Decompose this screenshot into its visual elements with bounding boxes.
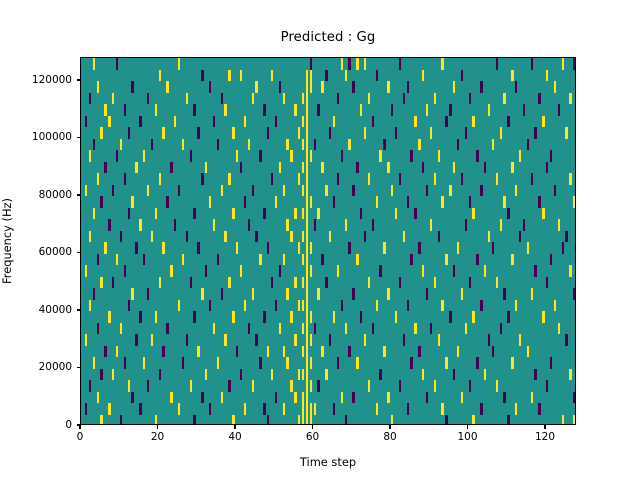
heatmap-cell	[255, 334, 257, 346]
heatmap-cell	[438, 150, 440, 162]
heatmap-cell	[329, 231, 331, 243]
heatmap-cell	[271, 70, 273, 82]
heatmap-cell	[511, 357, 513, 369]
x-tick-label: 80	[383, 432, 396, 443]
heatmap-cell	[286, 357, 288, 369]
heatmap-cell	[484, 265, 486, 277]
heatmap-cell	[306, 369, 308, 381]
heatmap-cell	[205, 162, 207, 174]
heatmap-cell	[93, 58, 95, 70]
heatmap-cell	[341, 300, 343, 312]
heatmap-cell	[542, 311, 544, 323]
heatmap-cell	[283, 93, 285, 105]
heatmap-cell	[186, 231, 188, 243]
heatmap-cell	[519, 150, 521, 162]
heatmap-cell	[453, 369, 455, 381]
heatmap-cell	[317, 208, 319, 220]
heatmap-cell	[294, 208, 296, 220]
heatmap-cell	[97, 254, 99, 266]
heatmap-cell	[534, 127, 536, 139]
heatmap-cell	[221, 288, 223, 300]
heatmap-cell	[178, 300, 180, 312]
heatmap-cell	[306, 346, 308, 358]
heatmap-cell	[100, 127, 102, 139]
heatmap-cell	[139, 116, 141, 128]
heatmap-cell	[298, 415, 300, 426]
heatmap-cell	[236, 346, 238, 358]
heatmap-cell	[193, 311, 195, 323]
heatmap-cell	[252, 288, 254, 300]
heatmap-cell	[414, 208, 416, 220]
heatmap-cell	[283, 254, 285, 266]
heatmap-cell	[271, 369, 273, 381]
heatmap-cell	[422, 265, 424, 277]
heatmap-cell	[209, 403, 211, 415]
heatmap-cell	[538, 93, 540, 105]
heatmap-cell	[542, 208, 544, 220]
heatmap-cell	[368, 277, 370, 289]
heatmap-cell	[197, 242, 199, 254]
heatmap-cell	[302, 116, 304, 128]
heatmap-cell	[228, 277, 230, 289]
x-tick-mark	[312, 425, 313, 429]
heatmap-cell	[507, 116, 509, 128]
heatmap-cell	[461, 288, 463, 300]
heatmap-cell	[403, 93, 405, 105]
heatmap-cell	[120, 415, 122, 426]
heatmap-cell	[569, 369, 571, 381]
heatmap-cell	[97, 392, 99, 404]
heatmap-cell	[201, 173, 203, 185]
heatmap-cell	[387, 392, 389, 404]
heatmap-cell	[306, 300, 308, 312]
heatmap-cell	[124, 357, 126, 369]
heatmap-cell	[310, 403, 312, 415]
heatmap-cell	[252, 93, 254, 105]
heatmap-cell	[186, 93, 188, 105]
heatmap-cell	[368, 380, 370, 392]
heatmap-cell	[232, 415, 234, 426]
heatmap-cell	[364, 231, 366, 243]
heatmap-cell	[372, 219, 374, 231]
heatmap-cell	[492, 346, 494, 358]
heatmap-cell	[139, 311, 141, 323]
heatmap-cell	[85, 403, 87, 415]
heatmap-cell	[511, 254, 513, 266]
heatmap-cell	[360, 311, 362, 323]
heatmap-cell	[341, 150, 343, 162]
heatmap-cell	[178, 185, 180, 197]
heatmap-cell	[85, 185, 87, 197]
heatmap-cell	[108, 311, 110, 323]
heatmap-cell	[333, 196, 335, 208]
heatmap-cell	[337, 93, 339, 105]
heatmap-cell	[89, 380, 91, 392]
heatmap-cell	[221, 185, 223, 197]
heatmap-cell	[290, 380, 292, 392]
heatmap-cell	[472, 415, 474, 426]
heatmap-cell	[151, 139, 153, 151]
heatmap-cell	[275, 196, 277, 208]
heatmap-cell	[484, 162, 486, 174]
heatmap-cell	[186, 334, 188, 346]
heatmap-cell	[310, 334, 312, 346]
heatmap-cell	[426, 288, 428, 300]
y-tick-mark	[77, 252, 81, 253]
heatmap-cell	[534, 369, 536, 381]
heatmap-cell	[267, 127, 269, 139]
heatmap-cell	[550, 150, 552, 162]
heatmap-cell	[527, 139, 529, 151]
heatmap-cell	[302, 403, 304, 415]
heatmap-cell	[267, 415, 269, 426]
heatmap-cell	[298, 300, 300, 312]
heatmap-cell	[480, 300, 482, 312]
heatmap-cell	[217, 139, 219, 151]
heatmap-cell	[190, 277, 192, 289]
heatmap-cell	[562, 58, 564, 70]
heatmap-cell	[511, 70, 513, 82]
heatmap-cell	[348, 58, 350, 70]
heatmap-cell	[345, 323, 347, 335]
heatmap-cell	[441, 403, 443, 415]
heatmap-cell	[383, 346, 385, 358]
heatmap-cell	[484, 369, 486, 381]
heatmap-cell	[500, 219, 502, 231]
x-tick-label: 120	[535, 432, 555, 443]
heatmap-cell	[457, 346, 459, 358]
heatmap-cell	[469, 380, 471, 392]
heatmap-cell	[565, 127, 567, 139]
heatmap-cell	[85, 334, 87, 346]
heatmap-cell	[306, 219, 308, 231]
heatmap-cell	[221, 392, 223, 404]
heatmap-cell	[255, 81, 257, 93]
heatmap-cell	[100, 196, 102, 208]
heatmap-cell	[445, 415, 447, 426]
heatmap-cell	[302, 231, 304, 243]
heatmap-cell	[255, 231, 257, 243]
heatmap-cell	[174, 116, 176, 128]
y-axis-label: Frequency (Hz)	[0, 198, 14, 284]
heatmap-cell	[240, 265, 242, 277]
heatmap-cell	[89, 300, 91, 312]
heatmap-cell	[244, 403, 246, 415]
heatmap-cell	[306, 81, 308, 93]
heatmap-cell	[573, 392, 575, 404]
heatmap-cell	[503, 392, 505, 404]
heatmap-cell	[124, 173, 126, 185]
heatmap-cell	[352, 288, 354, 300]
heatmap-cell	[131, 196, 133, 208]
heatmap-cell	[573, 196, 575, 208]
heatmap-cell	[410, 150, 412, 162]
heatmap-cell	[325, 70, 327, 82]
heatmap-cell	[395, 311, 397, 323]
heatmap-cell	[116, 150, 118, 162]
heatmap-cell	[562, 242, 564, 254]
heatmap-cell	[170, 392, 172, 404]
heatmap-cell	[298, 242, 300, 254]
heatmap-cell	[399, 58, 401, 70]
heatmap-cell	[492, 242, 494, 254]
heatmap-cell	[159, 70, 161, 82]
heatmap-cell	[469, 277, 471, 289]
x-tick-mark	[79, 425, 80, 429]
heatmap-cell	[476, 150, 478, 162]
heatmap-cell	[542, 116, 544, 128]
heatmap-cell	[182, 357, 184, 369]
heatmap-cell	[523, 104, 525, 116]
heatmap-cell	[302, 300, 304, 312]
heatmap-cell	[151, 334, 153, 346]
heatmap-cell	[302, 208, 304, 220]
heatmap-cell	[104, 242, 106, 254]
y-tick-label: 60000	[39, 247, 72, 258]
heatmap-cell	[391, 185, 393, 197]
heatmap-cell	[515, 300, 517, 312]
heatmap-cell	[178, 58, 180, 70]
heatmap-cell	[267, 242, 269, 254]
y-tick-label: 80000	[39, 190, 72, 201]
heatmap-cell	[364, 127, 366, 139]
heatmap-cell	[205, 265, 207, 277]
heatmap-cell	[480, 185, 482, 197]
heatmap-cell	[352, 185, 354, 197]
heatmap-cell	[228, 70, 230, 82]
heatmap-cell	[434, 380, 436, 392]
heatmap-cell	[554, 185, 556, 197]
heatmap-cell	[302, 185, 304, 197]
heatmap-cell	[306, 70, 308, 82]
heatmap-cell	[317, 288, 319, 300]
heatmap-cell	[159, 369, 161, 381]
heatmap-cell	[306, 277, 308, 289]
x-tick-mark	[467, 425, 468, 429]
heatmap-cell	[205, 369, 207, 381]
heatmap-cell	[100, 277, 102, 289]
heatmap-cell	[422, 369, 424, 381]
heatmap-cell	[108, 403, 110, 415]
heatmap-cell	[120, 139, 122, 151]
heatmap-cell	[310, 150, 312, 162]
heatmap-cell	[306, 150, 308, 162]
heatmap-cell	[244, 116, 246, 128]
heatmap-cell	[538, 403, 540, 415]
heatmap-cell	[515, 185, 517, 197]
heatmap-cell	[143, 357, 145, 369]
heatmap-cell	[290, 231, 292, 243]
heatmap-cell	[368, 173, 370, 185]
heatmap-cell	[302, 323, 304, 335]
heatmap-cell	[182, 139, 184, 151]
heatmap-cell	[352, 392, 354, 404]
heatmap-cell	[190, 150, 192, 162]
heatmap-cell	[139, 219, 141, 231]
heatmap-cell	[449, 104, 451, 116]
heatmap-cell	[302, 139, 304, 151]
heatmap-cell	[306, 311, 308, 323]
heatmap-cell	[345, 415, 347, 426]
heatmap-cell	[422, 70, 424, 82]
heatmap-cell	[244, 300, 246, 312]
heatmap-cell	[306, 323, 308, 335]
heatmap-cell	[104, 104, 106, 116]
heatmap-cell	[224, 231, 226, 243]
heatmap-cell	[283, 403, 285, 415]
y-tick-mark	[77, 367, 81, 368]
heatmap-cell	[337, 265, 339, 277]
y-tick-label: 100000	[32, 132, 72, 143]
heatmap-cell	[155, 415, 157, 426]
heatmap-cell	[387, 81, 389, 93]
heatmap-cell	[93, 139, 95, 151]
heatmap-cell	[569, 173, 571, 185]
heatmap-cell	[298, 369, 300, 381]
heatmap-cell	[511, 162, 513, 174]
heatmap-cell	[147, 93, 149, 105]
heatmap-cell	[546, 162, 548, 174]
heatmap-cell	[159, 277, 161, 289]
heatmap-cell	[267, 346, 269, 358]
heatmap-cell	[166, 323, 168, 335]
heatmap-cell	[143, 254, 145, 266]
heatmap-cell	[166, 196, 168, 208]
heatmap-cell	[294, 277, 296, 289]
heatmap-cell	[364, 334, 366, 346]
heatmap-cell	[162, 242, 164, 254]
heatmap-cell	[519, 334, 521, 346]
heatmap-cell	[217, 254, 219, 266]
heatmap-cell	[554, 81, 556, 93]
heatmap-cell	[461, 392, 463, 404]
heatmap-cell	[217, 357, 219, 369]
heatmap-cell	[531, 173, 533, 185]
heatmap-cell	[240, 162, 242, 174]
heatmap-cell	[376, 403, 378, 415]
heatmap-cell	[201, 288, 203, 300]
heatmap-cell	[306, 127, 308, 139]
heatmap-cell	[306, 254, 308, 266]
heatmap-cell	[263, 311, 265, 323]
heatmap-cell	[240, 369, 242, 381]
heatmap-cell	[302, 93, 304, 105]
x-tick-label: 20	[151, 432, 164, 443]
heatmap-cell	[418, 346, 420, 358]
heatmap-cell	[286, 139, 288, 151]
heatmap-cell	[279, 81, 281, 93]
heatmap-cell	[244, 196, 246, 208]
heatmap-cell	[89, 150, 91, 162]
heatmap-cell	[480, 81, 482, 93]
heatmap-cell	[310, 265, 312, 277]
x-tick-mark	[157, 425, 158, 429]
heatmap-cell	[507, 311, 509, 323]
heatmap-cell	[527, 242, 529, 254]
heatmap-cell	[298, 173, 300, 185]
heatmap-cell	[147, 185, 149, 197]
heatmap-cell	[306, 403, 308, 415]
heatmap-cell	[383, 242, 385, 254]
heatmap-cell	[414, 116, 416, 128]
heatmap-cell	[500, 323, 502, 335]
heatmap-cell	[201, 70, 203, 82]
x-tick-label: 0	[77, 432, 84, 443]
heatmap-cell	[193, 415, 195, 426]
heatmap-cell	[457, 139, 459, 151]
heatmap-cell	[193, 208, 195, 220]
heatmap-cell	[170, 162, 172, 174]
heatmap-cell	[147, 288, 149, 300]
heatmap-cell	[131, 81, 133, 93]
heatmap-cell	[457, 242, 459, 254]
heatmap-cell	[348, 346, 350, 358]
heatmap-cell	[279, 265, 281, 277]
heatmap-cell	[418, 139, 420, 151]
heatmap-cell	[89, 93, 91, 105]
heatmap-cell	[372, 323, 374, 335]
heatmap-cell	[531, 288, 533, 300]
heatmap-cell	[523, 219, 525, 231]
heatmap-cell	[399, 380, 401, 392]
heatmap-cell	[248, 323, 250, 335]
heatmap-cell	[306, 415, 308, 426]
heatmap-cell	[333, 116, 335, 128]
heatmap-cell	[232, 127, 234, 139]
heatmap-cell	[368, 93, 370, 105]
y-tick-mark	[77, 309, 81, 310]
heatmap-cell	[465, 127, 467, 139]
heatmap-cell	[232, 208, 234, 220]
heatmap-cell	[503, 196, 505, 208]
heatmap-cell	[108, 116, 110, 128]
heatmap-cell	[294, 104, 296, 116]
heatmap-cell	[341, 58, 343, 70]
heatmap-cell	[120, 231, 122, 243]
heatmap-cell	[426, 392, 428, 404]
heatmap-cell	[430, 323, 432, 335]
heatmap-cell	[507, 208, 509, 220]
heatmap-cell	[135, 162, 137, 174]
heatmap-cell	[197, 346, 199, 358]
heatmap-cell	[317, 104, 319, 116]
y-tick-mark	[77, 194, 81, 195]
heatmap-cell	[259, 254, 261, 266]
heatmap-cell	[453, 81, 455, 93]
heatmap-cell	[100, 369, 102, 381]
heatmap-cell	[550, 254, 552, 266]
heatmap-cell	[488, 104, 490, 116]
heatmap-cell	[573, 288, 575, 300]
heatmap-cell	[162, 127, 164, 139]
x-tick-mark	[234, 425, 235, 429]
heatmap-cell	[306, 185, 308, 197]
heatmap-cell	[356, 58, 358, 70]
heatmap-cell	[302, 162, 304, 174]
heatmap-cell	[387, 162, 389, 174]
heatmap-cell	[97, 81, 99, 93]
x-tick-label: 100	[457, 432, 477, 443]
heatmap-cell	[426, 185, 428, 197]
heatmap-cell	[85, 116, 87, 128]
heatmap-cell	[228, 173, 230, 185]
heatmap-cell	[558, 219, 560, 231]
heatmap-cell	[438, 231, 440, 243]
heatmap-cell	[248, 219, 250, 231]
heatmap-cell	[306, 334, 308, 346]
heatmap-cell	[403, 334, 405, 346]
heatmap-cell	[263, 104, 265, 116]
